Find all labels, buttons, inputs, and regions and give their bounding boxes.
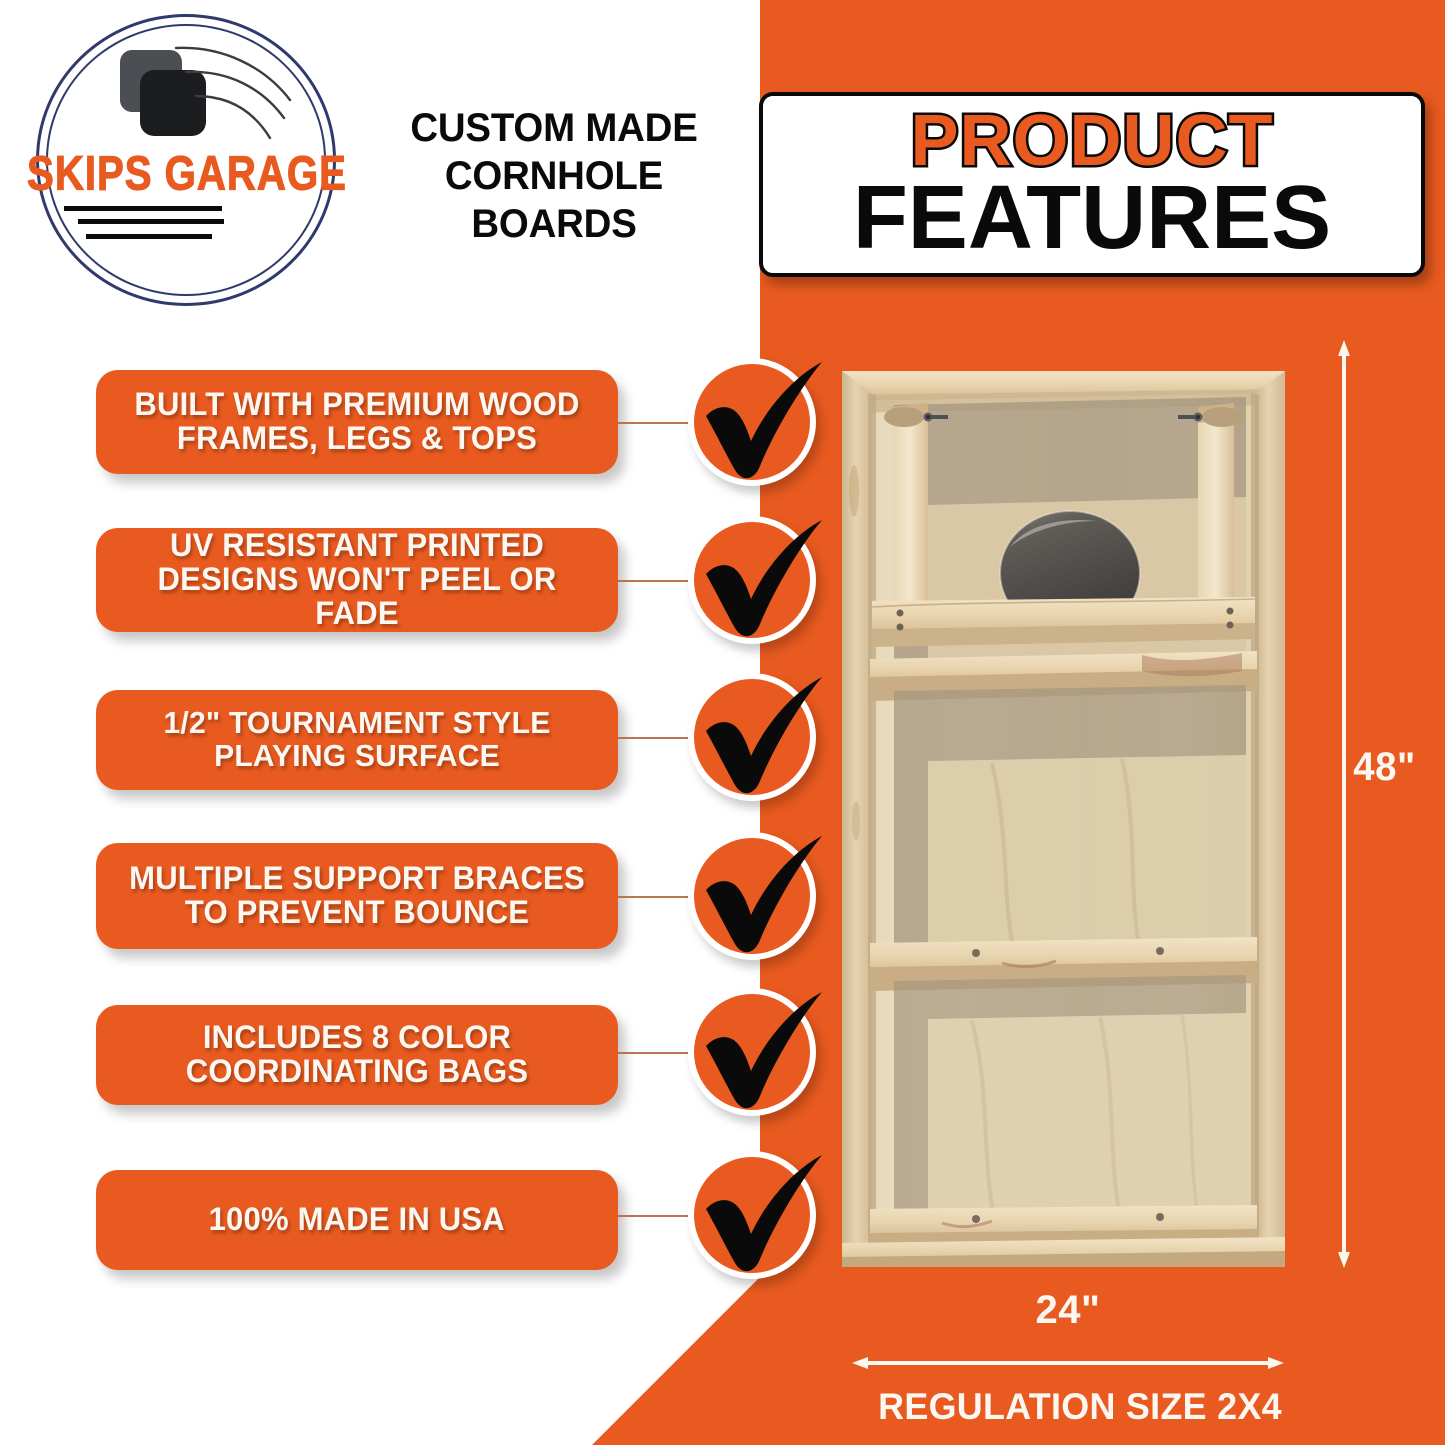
regulation-size-caption: REGULATION SIZE 2X4	[818, 1386, 1342, 1428]
feature-check-badge[interactable]	[688, 1151, 816, 1279]
feature-pill[interactable]: 100% MADE IN USA	[96, 1170, 618, 1270]
product-photo-cornhole-board	[842, 371, 1285, 1267]
feature-label: 1/2" TOURNAMENT STYLE PLAYING SURFACE	[117, 707, 596, 773]
feature-pill[interactable]: MULTIPLE SUPPORT BRACES TO PREVENT BOUNC…	[96, 843, 618, 949]
product-features-badge: PRODUCT FEATURES	[759, 92, 1425, 277]
brand-logo: SKIPS GARAGE	[22, 8, 352, 308]
feature-label: INCLUDES 8 COLOR COORDINATING BAGS	[117, 1021, 596, 1089]
feature-pill[interactable]: BUILT WITH PREMIUM WOOD FRAMES, LEGS & T…	[96, 370, 618, 474]
height-dimension-arrow	[1336, 340, 1352, 1268]
checkmark-icon	[682, 506, 834, 666]
feature-connector	[618, 1052, 690, 1054]
feature-check-badge[interactable]	[688, 358, 816, 486]
feature-label: 100% MADE IN USA	[209, 1203, 505, 1237]
feature-connector	[618, 580, 690, 582]
feature-row: 100% MADE IN USA	[0, 1170, 840, 1290]
checkmark-icon	[682, 978, 834, 1138]
page-title: CUSTOM MADE CORNHOLE BOARDS	[366, 104, 742, 248]
motion-lines-icon	[172, 42, 302, 147]
logo-rule-3	[86, 234, 212, 239]
feature-check-badge[interactable]	[688, 988, 816, 1116]
feature-row: INCLUDES 8 COLOR COORDINATING BAGS	[0, 1005, 840, 1125]
feature-connector	[618, 422, 690, 424]
feature-check-badge[interactable]	[688, 516, 816, 644]
feature-check-badge[interactable]	[688, 832, 816, 960]
feature-row: BUILT WITH PREMIUM WOOD FRAMES, LEGS & T…	[0, 370, 840, 490]
width-dimension-arrow	[852, 1355, 1284, 1371]
feature-label: MULTIPLE SUPPORT BRACES TO PREVENT BOUNC…	[117, 862, 596, 930]
feature-row: 1/2" TOURNAMENT STYLE PLAYING SURFACE	[0, 690, 840, 810]
feature-label: BUILT WITH PREMIUM WOOD FRAMES, LEGS & T…	[117, 388, 596, 456]
page-title-line-2: CORNHOLE	[366, 152, 742, 200]
infographic-canvas: SKIPS GARAGE CUSTOM MADE CORNHOLE BOARDS…	[0, 0, 1445, 1445]
feature-pill[interactable]: INCLUDES 8 COLOR COORDINATING BAGS	[96, 1005, 618, 1105]
feature-connector	[618, 1215, 690, 1217]
page-title-line-1: CUSTOM MADE	[366, 104, 742, 152]
feature-connector	[618, 737, 690, 739]
badge-line-features: FEATURES	[853, 176, 1331, 262]
feature-label: UV RESISTANT PRINTED DESIGNS WON'T PEEL …	[117, 529, 596, 631]
height-dimension-label: 48"	[1353, 745, 1415, 790]
feature-row: MULTIPLE SUPPORT BRACES TO PREVENT BOUNC…	[0, 843, 840, 963]
feature-connector	[618, 896, 690, 898]
logo-rule-2	[78, 219, 224, 224]
cornhole-board-illustration	[842, 371, 1285, 1267]
logo-wordmark: SKIPS GARAGE	[21, 146, 352, 201]
feature-pill[interactable]: 1/2" TOURNAMENT STYLE PLAYING SURFACE	[96, 690, 618, 790]
width-dimension-label: 24"	[852, 1288, 1284, 1333]
badge-line-product: PRODUCT	[911, 108, 1274, 174]
feature-check-badge[interactable]	[688, 673, 816, 801]
feature-pill[interactable]: UV RESISTANT PRINTED DESIGNS WON'T PEEL …	[96, 528, 618, 632]
checkmark-icon	[682, 1141, 834, 1301]
checkmark-icon	[682, 348, 834, 508]
checkmark-icon	[682, 663, 834, 823]
feature-row: UV RESISTANT PRINTED DESIGNS WON'T PEEL …	[0, 528, 840, 648]
logo-rule-1	[64, 206, 222, 211]
page-title-line-3: BOARDS	[366, 200, 742, 248]
checkmark-icon	[682, 822, 834, 982]
